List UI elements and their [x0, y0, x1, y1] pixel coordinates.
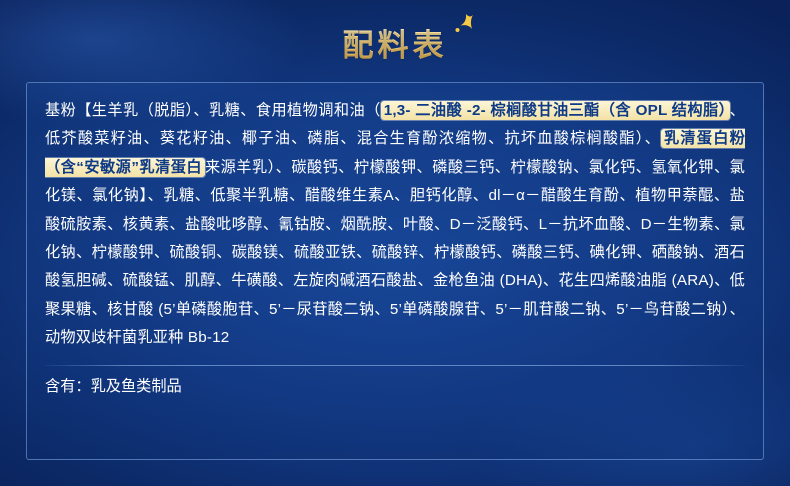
ingredient-text: 基粉【生羊乳（脱脂）、乳糖、食用植物调和油（1,3- 二油酸 -2- 棕榈酸甘油…: [45, 97, 745, 353]
ingredient-segment-plain: 基粉【生羊乳（脱脂）、乳糖、食用植物调和油（: [45, 102, 381, 119]
ingredient-segment-highlight-opl: 1,3- 二油酸 -2- 棕榈酸甘油三酯（含 OPL 结构脂）: [381, 101, 730, 120]
title-area: 配料表: [0, 0, 790, 84]
page-title: 配料表: [343, 20, 448, 65]
sparkle-icon: [449, 12, 475, 38]
panel-divider: [45, 365, 745, 366]
ingredient-segment-plain-3: 来源羊乳）、碳酸钙、柠檬酸钾、磷酸三钙、柠檬酸钠、氯化钙、氢氧化钾、氯化镁、氯化…: [45, 159, 745, 346]
ingredient-poster: 配料表 基粉【生羊乳（脱脂）、乳糖、食用植物调和油（1,3- 二油酸 -2- 棕…: [0, 0, 790, 486]
ingredient-panel: 基粉【生羊乳（脱脂）、乳糖、食用植物调和油（1,3- 二油酸 -2- 棕榈酸甘油…: [26, 82, 764, 460]
allergen-statement: 含有：乳及鱼类制品: [45, 374, 745, 400]
